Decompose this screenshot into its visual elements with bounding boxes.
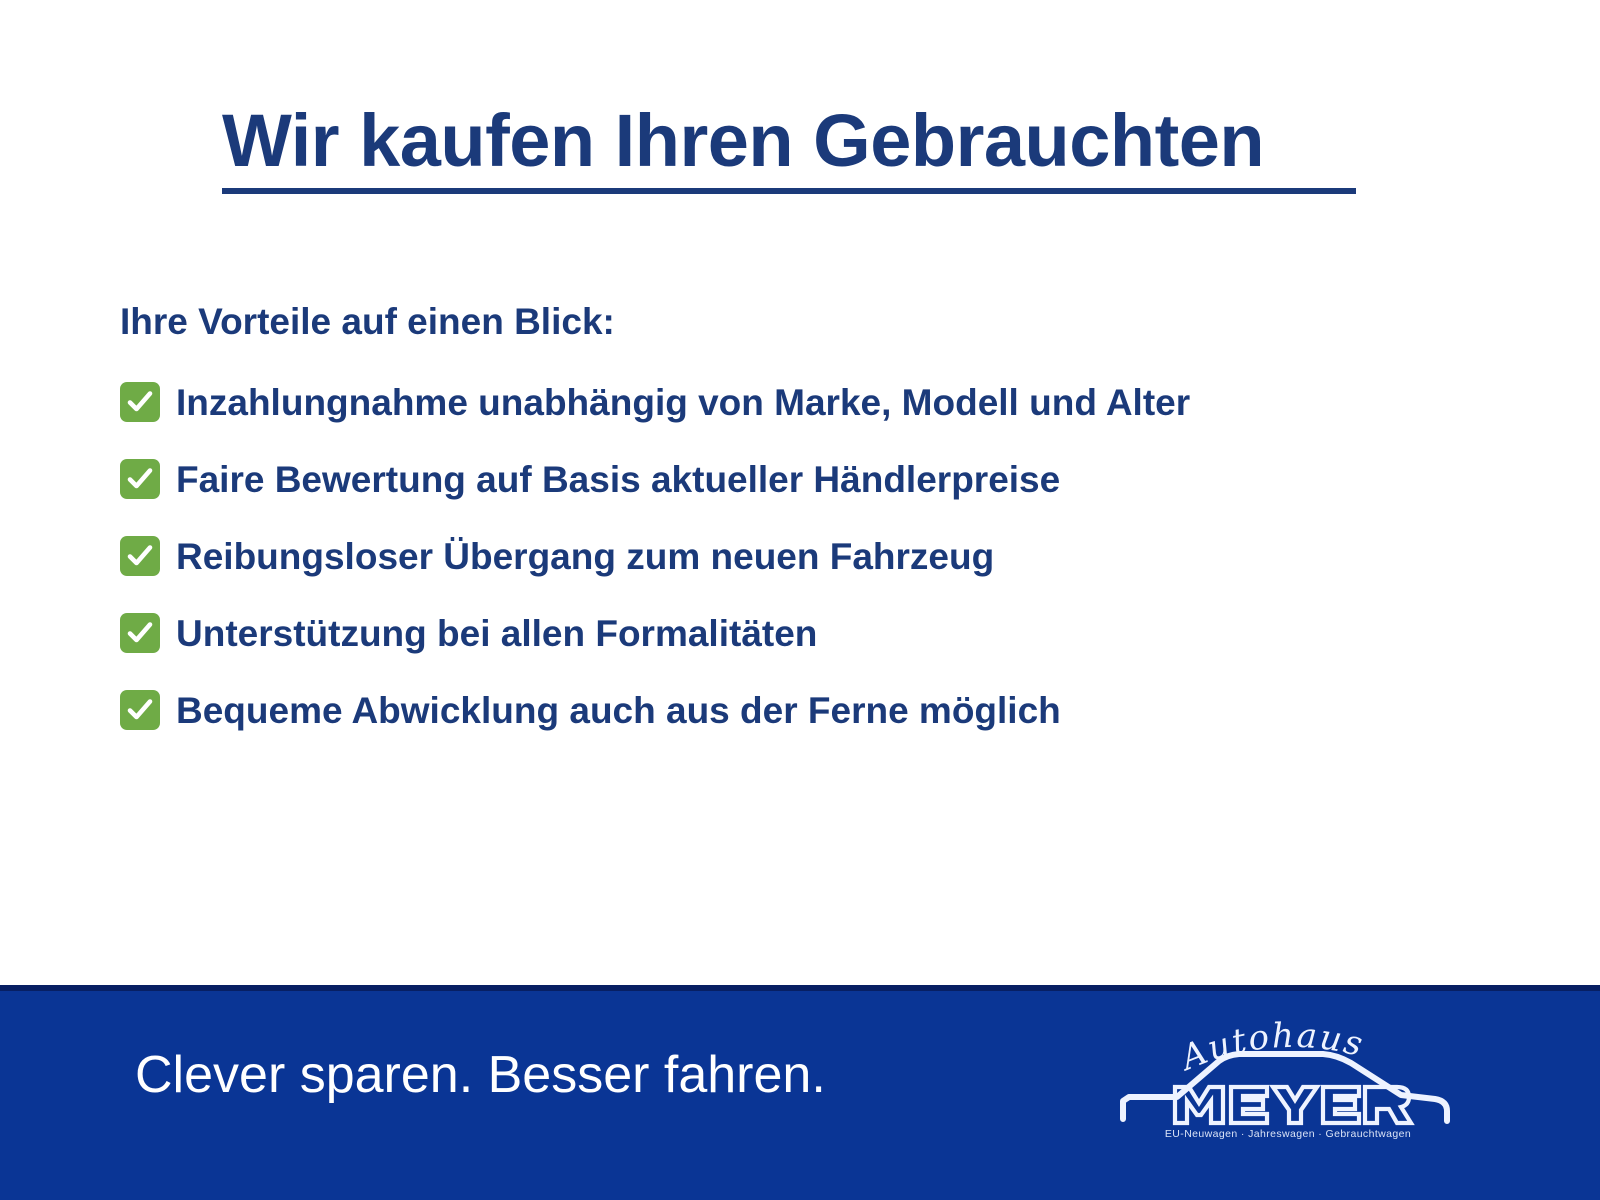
advertisement-page: Wir kaufen Ihren Gebrauchten Ihre Vortei… xyxy=(0,0,1600,1200)
list-item-label: Faire Bewertung auf Basis aktueller Händ… xyxy=(176,461,1060,498)
footer-band: Clever sparen. Besser fahren. xyxy=(0,985,1600,1200)
page-title: Wir kaufen Ihren Gebrauchten xyxy=(222,104,1362,178)
check-square-icon xyxy=(120,536,160,576)
title-underline xyxy=(222,188,1356,194)
logo-graphic: Autohaus xyxy=(1115,1001,1455,1141)
svg-text:Autohaus: Autohaus xyxy=(1173,1016,1369,1080)
list-item: Faire Bewertung auf Basis aktueller Händ… xyxy=(120,456,1520,502)
list-item-label: Reibungsloser Übergang zum neuen Fahrzeu… xyxy=(176,538,994,575)
logo-script-word: Autohaus xyxy=(1173,1016,1369,1080)
autohaus-meyer-logo: Autohaus EU-Neuwagen · Jahreswagen · Geb… xyxy=(1115,1001,1455,1161)
list-item-label: Bequeme Abwicklung auch aus der Ferne mö… xyxy=(176,692,1061,729)
check-square-icon xyxy=(120,613,160,653)
list-item-label: Inzahlungnahme unabhängig von Marke, Mod… xyxy=(176,384,1190,421)
check-square-icon xyxy=(120,690,160,730)
benefits-list: Inzahlungnahme unabhängig von Marke, Mod… xyxy=(120,379,1520,764)
logo-tagline: EU-Neuwagen · Jahreswagen · Gebrauchtwag… xyxy=(1133,1128,1443,1140)
benefits-subheading: Ihre Vorteile auf einen Blick: xyxy=(120,301,615,343)
list-item: Reibungsloser Übergang zum neuen Fahrzeu… xyxy=(120,533,1520,579)
list-item-label: Unterstützung bei allen Formalitäten xyxy=(176,615,817,652)
check-square-icon xyxy=(120,382,160,422)
list-item: Bequeme Abwicklung auch aus der Ferne mö… xyxy=(120,687,1520,733)
list-item: Inzahlungnahme unabhängig von Marke, Mod… xyxy=(120,379,1520,425)
footer-slogan: Clever sparen. Besser fahren. xyxy=(135,1045,826,1105)
check-square-icon xyxy=(120,459,160,499)
list-item: Unterstützung bei allen Formalitäten xyxy=(120,610,1520,656)
page-title-block: Wir kaufen Ihren Gebrauchten xyxy=(222,104,1362,194)
